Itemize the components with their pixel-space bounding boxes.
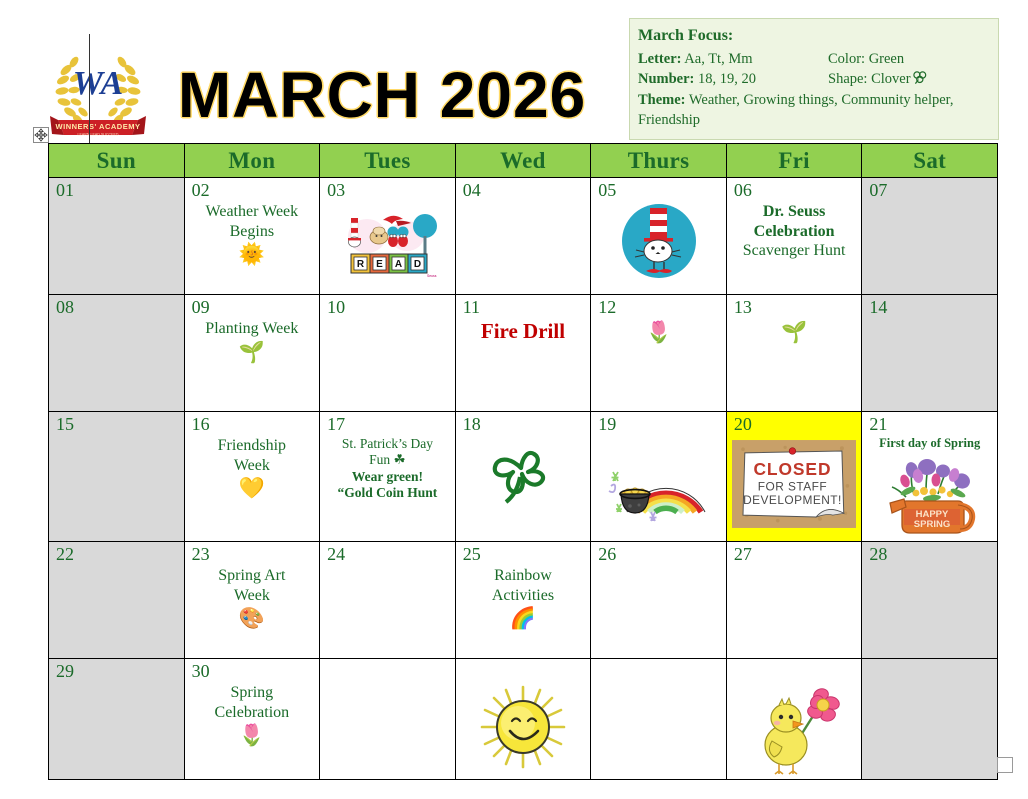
sun-emoji-icon: 🌞 xyxy=(190,243,315,266)
day-event-subline: Scavenger Hunt xyxy=(732,241,857,261)
day-event-line: Fun ☘ xyxy=(325,452,450,468)
day-event-line: Friendship xyxy=(190,436,315,456)
calendar-day-cell-24[interactable]: 24 xyxy=(320,542,456,659)
day-number: 21 xyxy=(869,415,887,435)
day-event-line: First day of Spring xyxy=(867,436,992,451)
calendar-day-cell-empty[interactable] xyxy=(726,659,862,780)
calendar-day-cell-18[interactable]: 18 xyxy=(455,412,591,542)
calendar-day-cell-01[interactable]: 01 xyxy=(49,178,185,295)
calendar-week-row: 2223Spring ArtWeek🎨2425RainbowActivities… xyxy=(49,542,998,659)
page-header: WA WINNERS' ACADEMY LEARN LEAD SUCCEED M… xyxy=(0,0,1028,142)
calendar-day-cell-09[interactable]: 09Planting Week🌱 xyxy=(184,295,320,412)
focus-letter: Letter: Aa, Tt, Mm xyxy=(638,49,828,70)
day-number: 08 xyxy=(56,298,74,318)
svg-text:D: D xyxy=(414,259,421,270)
school-logo: WA WINNERS' ACADEMY LEARN LEAD SUCCEED xyxy=(44,36,152,144)
weekday-header-row: Sun Mon Tues Wed Thurs Fri Sat xyxy=(49,144,998,178)
day-event-line: Activities xyxy=(461,586,586,606)
smiling-sun-icon xyxy=(468,683,578,771)
object-resize-handle[interactable] xyxy=(997,757,1013,773)
move-cross-icon xyxy=(34,128,48,142)
day-number: 12 xyxy=(598,298,616,318)
day-number: 16 xyxy=(192,415,210,435)
day-number: 07 xyxy=(869,181,887,201)
day-number: 06 xyxy=(734,181,752,201)
calendar-table: Sun Mon Tues Wed Thurs Fri Sat 0102Weath… xyxy=(48,143,998,780)
focus-number-value: 18, 19, 20 xyxy=(698,71,756,87)
table-move-handle[interactable] xyxy=(33,127,49,143)
day-event-line: Dr. Seuss xyxy=(732,202,857,222)
page-title: MARCH 2026 xyxy=(152,58,612,132)
closed-for-staff-development-note-icon: CLOSED FOR STAFF DEVELOPMENT! xyxy=(732,436,857,532)
focus-color: Color: Green xyxy=(828,49,990,70)
calendar-day-cell-12[interactable]: 12🌷 xyxy=(591,295,727,412)
svg-text:Seuss: Seuss xyxy=(427,274,437,278)
calendar-day-cell-28[interactable]: 28 xyxy=(862,542,998,659)
day-event-line: Celebration xyxy=(190,703,315,723)
day-number: 14 xyxy=(869,298,887,318)
weekday-header-fri: Fri xyxy=(726,144,862,178)
day-event-line: Weather Week xyxy=(190,202,315,222)
dr-seuss-read-blocks: R E A D Seuss xyxy=(325,202,450,278)
day-number: 04 xyxy=(463,181,481,201)
calendar-week-row: 0809Planting Week🌱1011Fire Drill12🌷13🌱14 xyxy=(49,295,998,412)
tulip-emoji-icon: 🌷 xyxy=(190,724,315,747)
day-number: 25 xyxy=(463,545,481,565)
focus-letter-value: Aa, Tt, Mm xyxy=(684,51,752,67)
focus-color-label: Color: xyxy=(828,51,865,67)
calendar-day-cell-05[interactable]: 05 xyxy=(591,178,727,295)
calendar-day-cell-20[interactable]: 20 CLOSED FOR STAFF DEVELOPMENT! xyxy=(726,412,862,542)
calendar-week-row: 2930SpringCelebration🌷 xyxy=(49,659,998,780)
day-number: 17 xyxy=(327,415,345,435)
weekday-header-wed: Wed xyxy=(455,144,591,178)
palette-emoji-icon: 🎨 xyxy=(190,607,315,630)
calendar-day-cell-23[interactable]: 23Spring ArtWeek🎨 xyxy=(184,542,320,659)
day-event-line: Spring xyxy=(190,683,315,703)
document-guide-line xyxy=(89,34,90,146)
focus-color-value: Green xyxy=(869,51,904,67)
chick-with-flower-icon xyxy=(746,683,842,775)
day-event-line: “Gold Coin Hunt xyxy=(325,485,450,501)
calendar-day-cell-16[interactable]: 16FriendshipWeek💛 xyxy=(184,412,320,542)
day-number: 26 xyxy=(598,545,616,565)
calendar-day-cell-21[interactable]: 21First day of Spring xyxy=(862,412,998,542)
svg-text:LEARN LEAD SUCCEED: LEARN LEAD SUCCEED xyxy=(78,133,119,137)
day-number: 10 xyxy=(327,298,345,318)
weekday-header-mon: Mon xyxy=(184,144,320,178)
focus-theme: Theme: Weather, Growing things, Communit… xyxy=(638,90,990,131)
day-number: 05 xyxy=(598,181,616,201)
svg-text:DEVELOPMENT!: DEVELOPMENT! xyxy=(743,493,842,507)
day-event-line: Rainbow xyxy=(461,566,586,586)
calendar-day-cell-empty[interactable] xyxy=(862,659,998,780)
calendar-day-cell-11[interactable]: 11Fire Drill xyxy=(455,295,591,412)
calendar-day-cell-13[interactable]: 13🌱 xyxy=(726,295,862,412)
day-number: 11 xyxy=(463,298,480,318)
day-event-line: Wear green! xyxy=(325,469,450,485)
day-event-line: St. Patrick’s Day xyxy=(325,436,450,452)
svg-text:FOR STAFF: FOR STAFF xyxy=(758,479,827,493)
calendar-day-cell-26[interactable]: 26 xyxy=(591,542,727,659)
day-number: 18 xyxy=(463,415,481,435)
day-event-line: Fire Drill xyxy=(461,319,586,345)
march-focus-box: March Focus: Letter: Aa, Tt, Mm Color: G… xyxy=(629,18,999,140)
focus-number: Number: 18, 19, 20 xyxy=(638,69,828,90)
calendar-day-cell-19[interactable]: 19 xyxy=(591,412,727,542)
day-event-line: Begins xyxy=(190,222,315,242)
day-event-line: Celebration xyxy=(732,222,857,242)
day-number: 20 xyxy=(734,415,752,435)
day-number: 30 xyxy=(192,662,210,682)
calendar-day-cell-17[interactable]: 17St. Patrick’s DayFun ☘Wear green!“Gold… xyxy=(320,412,456,542)
day-content xyxy=(591,659,726,687)
svg-text:CLOSED: CLOSED xyxy=(753,459,831,479)
day-number: 13 xyxy=(734,298,752,318)
calendar-day-cell-15[interactable]: 15 xyxy=(49,412,185,542)
calendar-day-cell-03[interactable]: 03 xyxy=(320,178,456,295)
calendar-day-cell-29[interactable]: 29 xyxy=(49,659,185,780)
clover-outline-icon xyxy=(483,436,563,510)
calendar-day-cell-02[interactable]: 02Weather WeekBegins🌞 xyxy=(184,178,320,295)
winners-academy-crest-icon: WA WINNERS' ACADEMY LEARN LEAD SUCCEED xyxy=(44,36,152,144)
calendar-day-cell-30[interactable]: 30SpringCelebration🌷 xyxy=(184,659,320,780)
focus-row-number-shape: Number: 18, 19, 20 Shape: Clover xyxy=(638,69,990,90)
svg-text:WA: WA xyxy=(73,65,123,102)
svg-text:E: E xyxy=(377,259,384,270)
focus-theme-label: Theme: xyxy=(638,92,686,108)
weekday-header-sun: Sun xyxy=(49,144,185,178)
svg-text:A: A xyxy=(395,259,402,270)
calendar-day-cell-empty[interactable] xyxy=(455,659,591,780)
calendar-day-cell-07[interactable]: 07 xyxy=(862,178,998,295)
cat-in-the-hat-badge xyxy=(596,202,721,280)
calendar-day-cell-14[interactable]: 14 xyxy=(862,295,998,412)
cat-in-the-hat-icon xyxy=(620,202,698,280)
day-number: 27 xyxy=(734,545,752,565)
rainbow-emoji-icon: 🌈 xyxy=(461,607,586,630)
focus-number-label: Number: xyxy=(638,71,694,87)
day-event-line: Week xyxy=(190,586,315,606)
focus-theme-value: Weather, Growing things, Community helpe… xyxy=(638,92,954,129)
calendar-week-row: 0102Weather WeekBegins🌞03 xyxy=(49,178,998,295)
day-number: 02 xyxy=(192,181,210,201)
day-number: 03 xyxy=(327,181,345,201)
day-number: 24 xyxy=(327,545,345,565)
day-event-line: Planting Week xyxy=(190,319,315,339)
day-content xyxy=(456,659,591,775)
calendar-day-cell-22[interactable]: 22 xyxy=(49,542,185,659)
pot-of-gold-rainbow xyxy=(596,436,721,522)
calendar-day-cell-08[interactable]: 08 xyxy=(49,295,185,412)
seedling-emoji-icon: 🌱 xyxy=(190,341,315,364)
focus-shape: Shape: Clover xyxy=(828,69,990,90)
focus-letter-label: Letter: xyxy=(638,51,681,67)
clover-outline xyxy=(461,436,586,510)
calendar-day-cell-empty[interactable] xyxy=(320,659,456,780)
calendar-body: 0102Weather WeekBegins🌞03 xyxy=(49,178,998,780)
day-number: 29 xyxy=(56,662,74,682)
pot-of-gold-rainbow-icon xyxy=(601,436,717,522)
day-content xyxy=(727,659,862,779)
calendar-page: WA WINNERS' ACADEMY LEARN LEAD SUCCEED M… xyxy=(0,0,1028,799)
svg-text:SPRING: SPRING xyxy=(913,519,949,530)
tulip-emoji-icon: 🌷 xyxy=(596,321,721,344)
focus-row-letter-color: Letter: Aa, Tt, Mm Color: Green xyxy=(638,49,990,70)
day-content xyxy=(320,659,455,687)
smiling-sun xyxy=(461,683,586,771)
svg-text:WINNERS' ACADEMY: WINNERS' ACADEMY xyxy=(56,122,141,131)
clover-icon xyxy=(911,70,928,85)
day-content xyxy=(862,659,997,687)
weekday-header-tues: Tues xyxy=(320,144,456,178)
day-number: 23 xyxy=(192,545,210,565)
focus-shape-value: Clover xyxy=(871,71,910,87)
weekday-header-thurs: Thurs xyxy=(591,144,727,178)
calendar-day-cell-06[interactable]: 06Dr. SeussCelebrationScavenger Hunt xyxy=(726,178,862,295)
day-event-line: Week xyxy=(190,456,315,476)
day-number: 09 xyxy=(192,298,210,318)
calendar-week-row: 1516FriendshipWeek💛17St. Patrick’s DayFu… xyxy=(49,412,998,542)
calendar-day-cell-10[interactable]: 10 xyxy=(320,295,456,412)
seedling-emoji-icon: 🌱 xyxy=(732,321,857,344)
calendar-day-cell-04[interactable]: 04 xyxy=(455,178,591,295)
day-number: 19 xyxy=(598,415,616,435)
day-number: 22 xyxy=(56,545,74,565)
day-number: 28 xyxy=(869,545,887,565)
focus-heading: March Focus: xyxy=(638,25,990,48)
watering-can-flowers: HAPPY SPRING xyxy=(867,451,992,537)
calendar-day-cell-empty[interactable] xyxy=(591,659,727,780)
day-event-line: Spring Art xyxy=(190,566,315,586)
watering-can-flowers-icon: HAPPY SPRING xyxy=(870,451,990,537)
focus-shape-label: Shape: xyxy=(828,71,867,87)
calendar-day-cell-27[interactable]: 27 xyxy=(726,542,862,659)
day-number: 01 xyxy=(56,181,74,201)
calendar-day-cell-25[interactable]: 25RainbowActivities🌈 xyxy=(455,542,591,659)
day-number: 15 xyxy=(56,415,74,435)
yellow-heart-emoji-icon: 💛 xyxy=(190,477,315,500)
chick-with-flower xyxy=(732,683,857,775)
closed-for-staff-development-note: CLOSED FOR STAFF DEVELOPMENT! xyxy=(732,436,857,532)
weekday-header-sat: Sat xyxy=(862,144,998,178)
dr-seuss-read-blocks-icon: R E A D Seuss xyxy=(333,202,441,278)
svg-text:R: R xyxy=(357,259,365,270)
